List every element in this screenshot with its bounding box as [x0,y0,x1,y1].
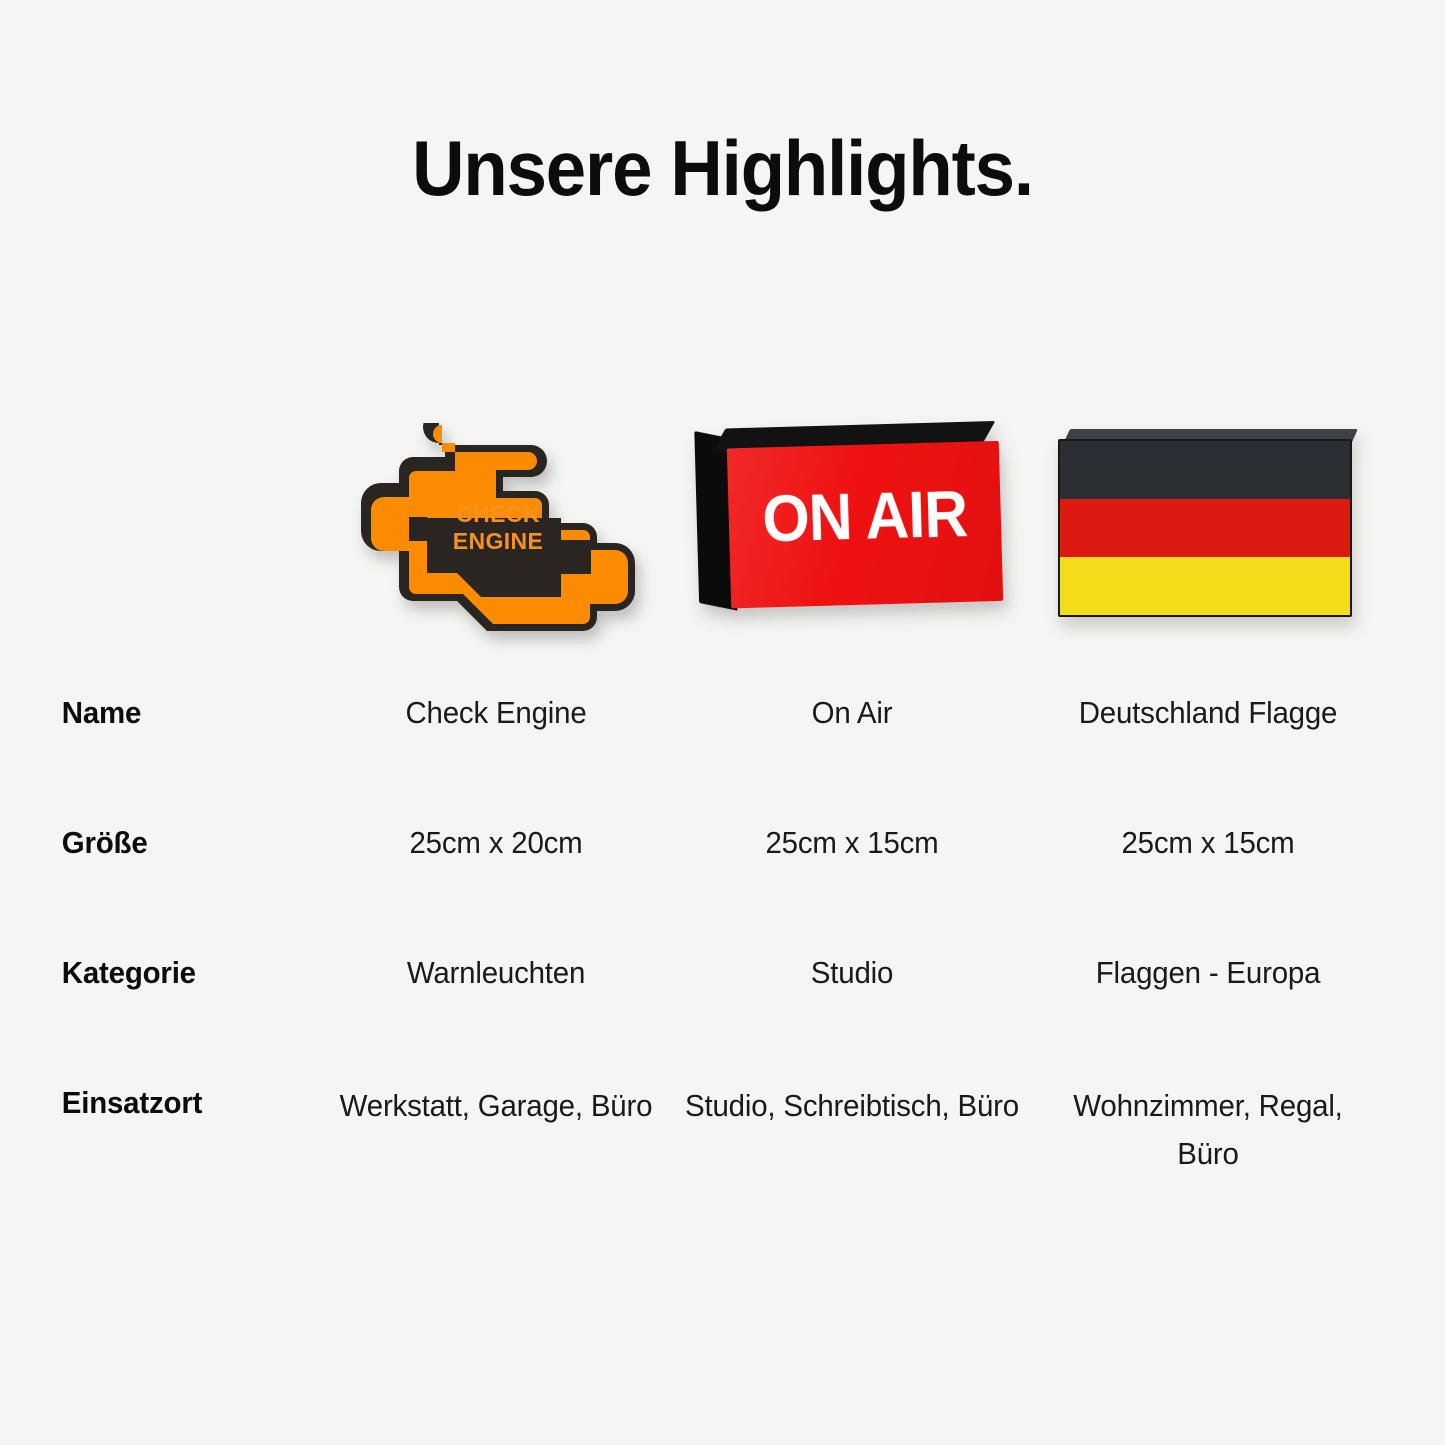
cell-einsatzort-deutschland-flagge: Wohnzimmer, Regal, Büro [1039,1082,1377,1178]
table-row: Einsatzort Werkstatt, Garage, Büro Studi… [0,1082,1445,1242]
cell-kategorie-deutschland-flagge: Flaggen - Europa [1039,952,1377,994]
cell-einsatzort-on-air: Studio, Schreibtisch, Büro [683,1082,1021,1130]
cell-groesse-check-engine: 25cm x 20cm [327,822,665,864]
product-image-check-engine[interactable]: CHECK ENGINE [318,405,674,655]
check-engine-label-line2: ENGINE [435,528,561,555]
row-label-kategorie: Kategorie [0,952,302,994]
on-air-box-front-face: ON AIR [727,441,1003,609]
product-image-deutschland-flagge[interactable] [1030,405,1386,655]
product-image-row: CHECK ENGINE ON AIR [0,405,1445,655]
highlights-page: Unsere Highlights. CHECK ENGINE [0,0,1445,1445]
cell-name-deutschland-flagge: Deutschland Flagge [1039,692,1377,734]
table-row: Kategorie Warnleuchten Studio Flaggen - … [0,952,1445,1082]
on-air-box: ON AIR [694,421,1009,630]
cell-groesse-on-air: 25cm x 15cm [683,822,1021,864]
table-row: Name Check Engine On Air Deutschland Fla… [0,692,1445,822]
cell-kategorie-on-air: Studio [683,952,1021,994]
cell-name-check-engine: Check Engine [327,692,665,734]
germany-flag-lightbox-graphic [1058,429,1358,625]
check-engine-label: CHECK ENGINE [435,501,561,554]
check-engine-label-line1: CHECK [435,501,561,528]
flag-band-yellow [1060,557,1350,615]
cell-groesse-deutschland-flagge: 25cm x 15cm [1039,822,1377,864]
check-engine-lamp-graphic: CHECK ENGINE [339,423,653,637]
row-label-groesse: Größe [0,822,302,864]
table-row: Größe 25cm x 20cm 25cm x 15cm 25cm x 15c… [0,822,1445,952]
page-title: Unsere Highlights. [51,128,1395,210]
flag-band-red [1060,499,1350,557]
cell-einsatzort-check-engine: Werkstatt, Garage, Büro [327,1082,665,1130]
product-image-on-air[interactable]: ON AIR [674,405,1030,655]
on-air-lightbox-graphic: ON AIR [697,425,1007,625]
flag-band-black [1060,441,1350,499]
row-label-einsatzort: Einsatzort [0,1082,302,1124]
on-air-label: ON AIR [739,479,991,552]
spec-table: Name Check Engine On Air Deutschland Fla… [0,692,1445,1242]
flag-box-front-face [1058,439,1352,617]
row-label-name: Name [0,692,302,734]
cell-name-on-air: On Air [683,692,1021,734]
cell-kategorie-check-engine: Warnleuchten [327,952,665,994]
